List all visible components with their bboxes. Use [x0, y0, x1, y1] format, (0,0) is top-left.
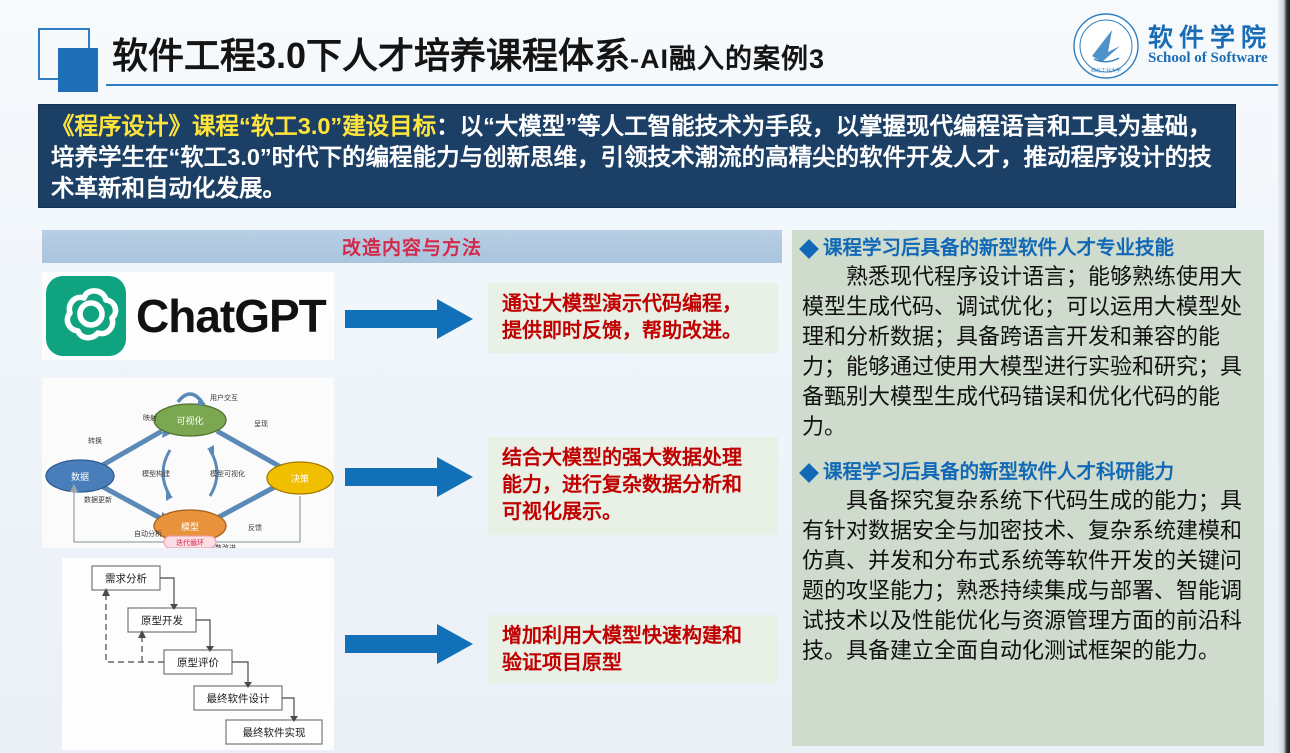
svg-text:迭代循环: 迭代循环: [176, 538, 204, 547]
page-title: 软件工程3.0下人才培养课程体系 -AI融入的案例3: [112, 22, 825, 74]
note-box-1: 通过大模型演示代码编程， 提供即时反馈，帮助改进。: [488, 283, 778, 353]
goal-banner: 《程序设计》课程“软工3.0”建设目标：以“大模型”等人工智能技术为手段，以掌握…: [38, 104, 1236, 208]
svg-text:需求分析: 需求分析: [105, 572, 147, 585]
svg-text:模型构建: 模型构建: [142, 469, 170, 478]
note-2-line-2: 能力，进行复杂数据分析和: [502, 474, 742, 496]
svg-text:转换: 转换: [88, 436, 102, 445]
note-1-line-1: 通过大模型演示代码编程，: [502, 293, 742, 315]
section-header-label: 改造内容与方法: [342, 233, 482, 260]
chatgpt-wordmark: ChatGPT: [136, 289, 326, 343]
svg-text:反馈: 反馈: [248, 523, 262, 532]
diamond-bullet-icon: [799, 463, 819, 483]
data-cycle-svg: 数据 可视化 决策 模型 转换 映射 呈现 数据更新 自动分析 反馈 模型构建: [42, 378, 334, 548]
panel-spacer: [802, 446, 1254, 460]
header-divider: [106, 84, 1280, 86]
competency-block-skills: 课程学习后具备的新型软件人才专业技能 熟悉现代程序设计语言；能够熟练使用大模型生…: [802, 236, 1254, 442]
prototype-flow-svg: 需求分析 原型开发 原型评价 最终软件设计 最终软件实现: [62, 558, 334, 750]
competency-research-heading-label: 课程学习后具备的新型软件人才科研能力: [823, 460, 1174, 485]
right-arrow-icon: [345, 455, 473, 499]
svg-text:映射: 映射: [143, 413, 157, 422]
note-3-line-2: 验证项目原型: [502, 652, 622, 674]
logo-label-cn: 软件学院: [1148, 26, 1272, 51]
svg-text:模型可视化: 模型可视化: [210, 469, 245, 478]
openai-knot-icon: [46, 276, 126, 356]
svg-text:用户交互: 用户交互: [210, 393, 238, 402]
competency-skills-heading-label: 课程学习后具备的新型软件人才专业技能: [823, 236, 1174, 261]
note-box-2: 结合大模型的强大数据处理 能力，进行复杂数据分析和 可视化展示。: [488, 437, 778, 535]
svg-text:西北工业大学: 西北工业大学: [1091, 67, 1121, 74]
svg-text:最终软件设计: 最终软件设计: [207, 692, 270, 705]
svg-text:原型开发: 原型开发: [141, 614, 183, 627]
note-box-3: 增加利用大模型快速构建和 验证项目原型: [488, 615, 778, 683]
svg-text:最终软件实现: 最终软件实现: [243, 726, 306, 739]
competency-research-heading: 课程学习后具备的新型软件人才科研能力: [802, 460, 1254, 485]
svg-text:决策: 决策: [291, 473, 309, 484]
svg-text:数据: 数据: [71, 471, 89, 482]
svg-text:可视化: 可视化: [176, 415, 203, 426]
prototype-flow-diagram: 需求分析 原型开发 原型评价 最终软件设计 最终软件实现: [62, 558, 334, 750]
competency-block-research: 课程学习后具备的新型软件人才科研能力 具备探究复杂系统下代码生成的能力；具有针对…: [802, 460, 1254, 666]
slide-header: 软件工程3.0下人才培养课程体系 -AI融入的案例3 西北工业大学 软件学院 S…: [0, 0, 1278, 92]
diamond-bullet-icon: [799, 239, 819, 259]
note-3-line-1: 增加利用大模型快速构建和: [502, 625, 742, 647]
square-filled-icon: [58, 48, 98, 92]
note-2-line-1: 结合大模型的强大数据处理: [502, 447, 742, 469]
section-header-methods: 改造内容与方法: [42, 230, 782, 263]
competency-skills-heading: 课程学习后具备的新型软件人才专业技能: [802, 236, 1254, 261]
svg-text:呈现: 呈现: [254, 420, 268, 428]
goal-banner-highlight: 《程序设计》课程“软工3.0”建设目标: [51, 113, 436, 139]
svg-text:自动分析: 自动分析: [134, 529, 162, 538]
competency-skills-body: 熟悉现代程序设计语言；能够熟练使用大模型生成代码、调试优化；可以运用大模型处理和…: [802, 262, 1254, 442]
note-2-line-3: 可视化展示。: [502, 501, 622, 523]
slide-canvas: 软件工程3.0下人才培养课程体系 -AI融入的案例3 西北工业大学 软件学院 S…: [0, 0, 1290, 753]
competency-panel: 课程学习后具备的新型软件人才专业技能 熟悉现代程序设计语言；能够熟练使用大模型生…: [792, 230, 1264, 746]
svg-text:原型评价: 原型评价: [177, 656, 219, 669]
university-logo: 西北工业大学 软件学院 School of Software: [1072, 8, 1272, 84]
right-arrow-icon: [345, 297, 473, 341]
screen-edge: [1278, 0, 1290, 753]
data-cycle-diagram: 数据 可视化 决策 模型 转换 映射 呈现 数据更新 自动分析 反馈 模型构建: [42, 378, 334, 548]
svg-text:模型: 模型: [181, 522, 199, 532]
page-title-main: 软件工程3.0下人才培养课程体系: [112, 38, 630, 74]
note-1-line-2: 提供即时反馈，帮助改进。: [502, 320, 742, 342]
page-title-sub: -AI融入的案例3: [630, 46, 825, 74]
logo-label-en: School of Software: [1148, 51, 1272, 66]
right-arrow-icon: [345, 622, 473, 666]
seal-icon: 西北工业大学: [1072, 12, 1140, 80]
svg-text:数据更新: 数据更新: [84, 495, 112, 504]
chatgpt-card: ChatGPT: [42, 272, 334, 360]
competency-research-body: 具备探究复杂系统下代码生成的能力；具有针对数据安全与加密技术、复杂系统建模和仿真…: [802, 486, 1254, 666]
